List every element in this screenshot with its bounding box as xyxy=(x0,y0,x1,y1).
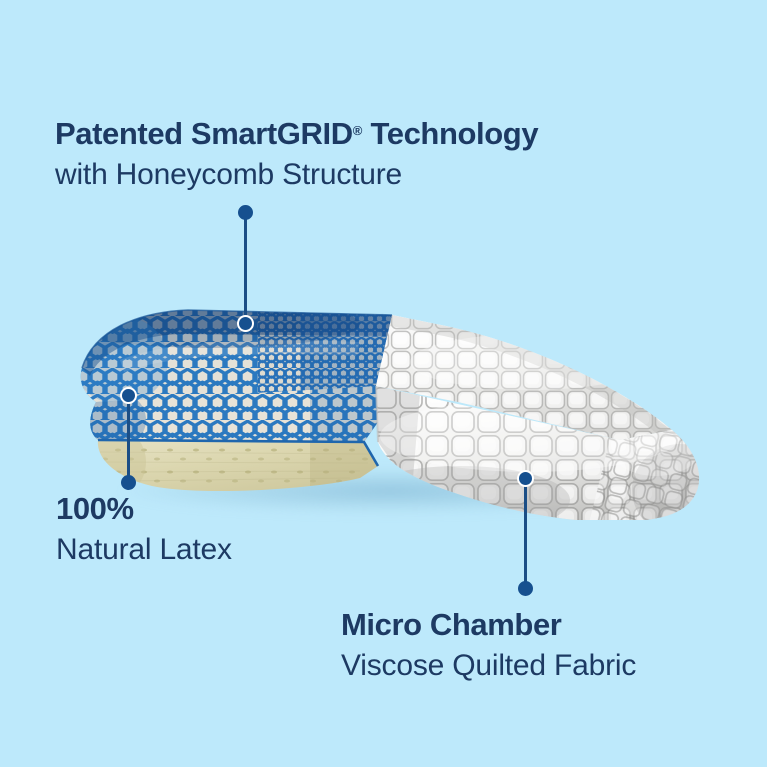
callout-title-smartgrid: Patented SmartGRID® Technology xyxy=(55,117,538,152)
leader-dot-anchor xyxy=(237,315,254,332)
registered-trademark-icon: ® xyxy=(353,123,363,138)
leader-dot-label xyxy=(238,205,253,220)
callout-subtitle-micro-chamber: Viscose Quilted Fabric xyxy=(341,649,636,683)
product-illustration xyxy=(60,290,710,520)
leader-line xyxy=(524,478,527,588)
callout-title-smartgrid-main: Patented SmartGRID xyxy=(55,116,353,151)
callout-title-latex: 100% xyxy=(56,492,232,527)
callout-title-smartgrid-tail: Technology xyxy=(362,116,538,151)
callout-label-micro-chamber: Micro Chamber Viscose Quilted Fabric xyxy=(341,608,636,682)
callout-label-smartgrid: Patented SmartGRID® Technology with Hone… xyxy=(55,117,538,191)
product-feature-diagram: Patented SmartGRID® Technology with Hone… xyxy=(0,0,767,767)
leader-dot-anchor xyxy=(120,387,137,404)
leader-dot-label xyxy=(518,581,533,596)
leader-line xyxy=(244,212,247,322)
callout-subtitle-latex: Natural Latex xyxy=(56,533,232,567)
callout-title-micro-chamber: Micro Chamber xyxy=(341,608,636,643)
callout-label-latex: 100% Natural Latex xyxy=(56,492,232,566)
leader-line xyxy=(127,395,130,482)
leader-dot-label xyxy=(121,475,136,490)
callout-subtitle-smartgrid: with Honeycomb Structure xyxy=(55,158,538,192)
leader-dot-anchor xyxy=(517,470,534,487)
